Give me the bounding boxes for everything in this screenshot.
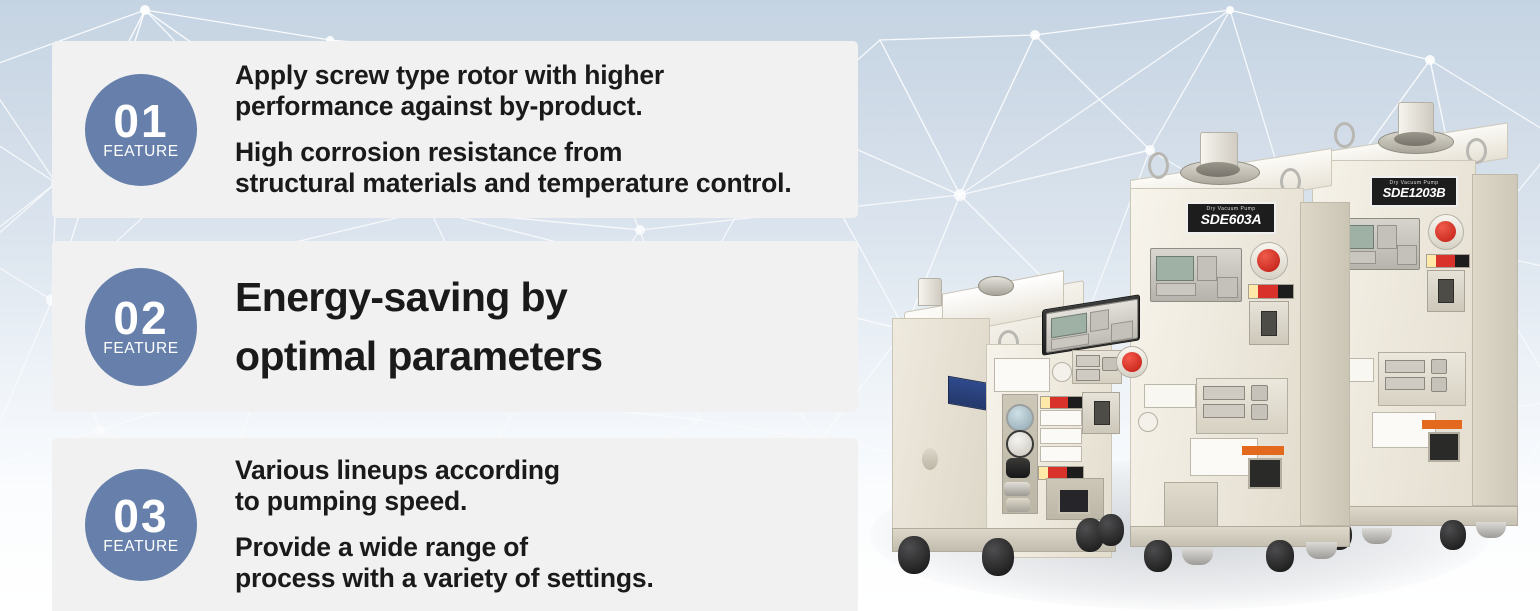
rear-pump-warning-label: [1426, 254, 1470, 268]
front-pump-pressure-gauge-upper: [1006, 404, 1034, 432]
rear-pump-inlet-collar: [1394, 132, 1436, 146]
middle-pump-dsub-connector-1: [1203, 386, 1245, 400]
middle-pump-inlet-collar: [1196, 162, 1240, 177]
front-pump-emergency-stop-guard: [1116, 346, 1148, 378]
front-pump-indicator-lamps: [1090, 309, 1109, 332]
front-pump-power-inlet: [1058, 488, 1090, 514]
middle-pump-warning-label: [1248, 284, 1294, 299]
feature-badge-word: FEATURE: [103, 539, 178, 555]
middle-pump-dsub-connector-2: [1203, 404, 1245, 418]
rear-pump-leveling-foot-right: [1476, 522, 1506, 538]
middle-pump-breaker-switch[interactable]: [1261, 311, 1277, 336]
front-pump-warning-label-top: [1040, 396, 1084, 409]
front-pump-panel-faceplate: [1046, 299, 1138, 354]
feature-badge-number: 03: [113, 495, 168, 538]
feature-badge-03: 03 FEATURE: [85, 469, 197, 581]
front-pump: [890, 270, 1165, 580]
middle-pump-caster-right: [1266, 540, 1294, 572]
front-pump-connector-panel: [1072, 350, 1122, 384]
front-pump-info-label-3: [1040, 446, 1082, 462]
rear-pump-breaker-box: [1427, 270, 1465, 312]
middle-pump-power-inlet: [1248, 458, 1282, 489]
front-pump-info-label-1: [1040, 410, 1082, 426]
middle-pump-access-hatch: [1164, 482, 1218, 532]
rear-pump-caster-right: [1440, 520, 1466, 550]
rear-pump-dsub-connector-1: [1385, 360, 1425, 373]
feature-badge-01: 01 FEATURE: [85, 74, 197, 186]
feature-banner: Dry Vacuum Pump SDE1203B: [0, 0, 1540, 611]
feature-text-02: Energy-saving by optimal parameters: [235, 268, 858, 384]
feature-card-01: 01 FEATURE Apply screw type rotor with h…: [52, 41, 858, 218]
front-pump-spec-sticker: [994, 358, 1050, 392]
rear-pump-emergency-stop-guard: [1428, 214, 1464, 250]
feature-text-03: Various lineups according to pumping spe…: [235, 455, 858, 594]
rear-pump-model-label: SDE1203B: [1372, 186, 1456, 199]
front-pump-caster-front-right: [982, 538, 1014, 576]
feature-text-01: Apply screw type rotor with higher perfo…: [235, 60, 858, 199]
middle-pump-breaker-box: [1249, 301, 1289, 345]
front-pump-side-face: [892, 318, 990, 538]
middle-pump-side-face: [1300, 202, 1350, 526]
front-pump-certification-seal: [1052, 362, 1072, 382]
middle-pump-orange-label: [1242, 446, 1284, 455]
front-pump-exhaust-flange: [978, 276, 1014, 296]
rear-pump-breaker-switch[interactable]: [1438, 279, 1454, 303]
middle-pump-emergency-stop-button[interactable]: [1257, 249, 1280, 272]
front-pump-inlet-port: [918, 278, 942, 306]
feature-badge-02: 02 FEATURE: [85, 268, 197, 386]
feature-badge-word: FEATURE: [103, 341, 178, 357]
middle-pump-leveling-foot-right: [1306, 542, 1337, 559]
feature-badge-number: 02: [113, 297, 168, 340]
middle-pump-indicator-lamps: [1197, 256, 1217, 281]
front-pump-info-label-2: [1040, 428, 1082, 444]
middle-pump-nameplate: Dry Vacuum Pump SDE603A: [1186, 202, 1276, 234]
rear-pump-round-connector-1: [1431, 359, 1447, 374]
rear-pump-nameplate: Dry Vacuum Pump SDE1203B: [1370, 176, 1458, 207]
front-pump-side-handle-recess: [922, 448, 938, 470]
front-pump-pressure-gauge-lower: [1006, 430, 1034, 458]
rear-pump-orange-label: [1422, 420, 1462, 429]
middle-pump-leveling-foot-left: [1182, 548, 1213, 565]
rear-pump-indicator-lamps: [1377, 225, 1397, 249]
middle-pump-emergency-stop-guard: [1250, 242, 1288, 280]
feature-paragraph: High corrosion resistance from structura…: [235, 137, 858, 199]
middle-pump-connector-panel: [1196, 378, 1288, 434]
rear-pump-connector-panel: [1378, 352, 1466, 406]
rear-pump-spec-sticker-b: [1372, 412, 1436, 448]
middle-pump-model-label: SDE603A: [1188, 212, 1274, 226]
front-pump-breaker-switch[interactable]: [1094, 401, 1110, 425]
feature-badge-word: FEATURE: [103, 144, 178, 160]
feature-card-02: 02 FEATURE Energy-saving by optimal para…: [52, 241, 858, 412]
rear-pump-power-inlet: [1428, 432, 1460, 462]
feature-badge-number: 01: [113, 100, 168, 143]
middle-pump-round-connector-2: [1251, 404, 1268, 420]
front-pump-caster-front-left: [898, 536, 930, 574]
front-pump-valve-knob[interactable]: [1006, 458, 1030, 478]
front-pump-fitting-lower: [1006, 498, 1030, 512]
feature-paragraph: Various lineups according to pumping spe…: [235, 455, 858, 517]
rear-pump-dsub-connector-2: [1385, 377, 1425, 390]
feature-paragraph: Provide a wide range of process with a v…: [235, 532, 858, 594]
front-pump-fitting-upper: [1004, 482, 1030, 496]
feature-card-03: 03 FEATURE Various lineups according to …: [52, 438, 858, 611]
rear-pump-side-face: [1472, 174, 1518, 506]
feature-paragraph: Energy-saving by optimal parameters: [235, 268, 858, 384]
feature-paragraph: Apply screw type rotor with higher perfo…: [235, 60, 858, 122]
rear-pump-round-connector-2: [1431, 377, 1447, 392]
rear-pump-emergency-stop-button[interactable]: [1435, 221, 1456, 242]
front-pump-breaker-box: [1082, 392, 1120, 434]
middle-pump-round-connector-1: [1251, 385, 1268, 401]
front-pump-arrow-pad[interactable]: [1111, 320, 1133, 341]
front-pump-emergency-stop-button[interactable]: [1122, 352, 1142, 372]
front-pump-dsub-connector-1: [1076, 355, 1100, 367]
middle-pump-lift-eye-left: [1148, 152, 1169, 179]
front-pump-caster-rear-right-2: [1098, 514, 1124, 546]
rear-pump-arrow-pad[interactable]: [1397, 245, 1417, 265]
product-photo-vacuum-pumps: Dry Vacuum Pump SDE1203B: [880, 80, 1520, 611]
front-pump-dsub-connector-2: [1076, 369, 1100, 381]
middle-pump-arrow-pad[interactable]: [1217, 277, 1238, 298]
